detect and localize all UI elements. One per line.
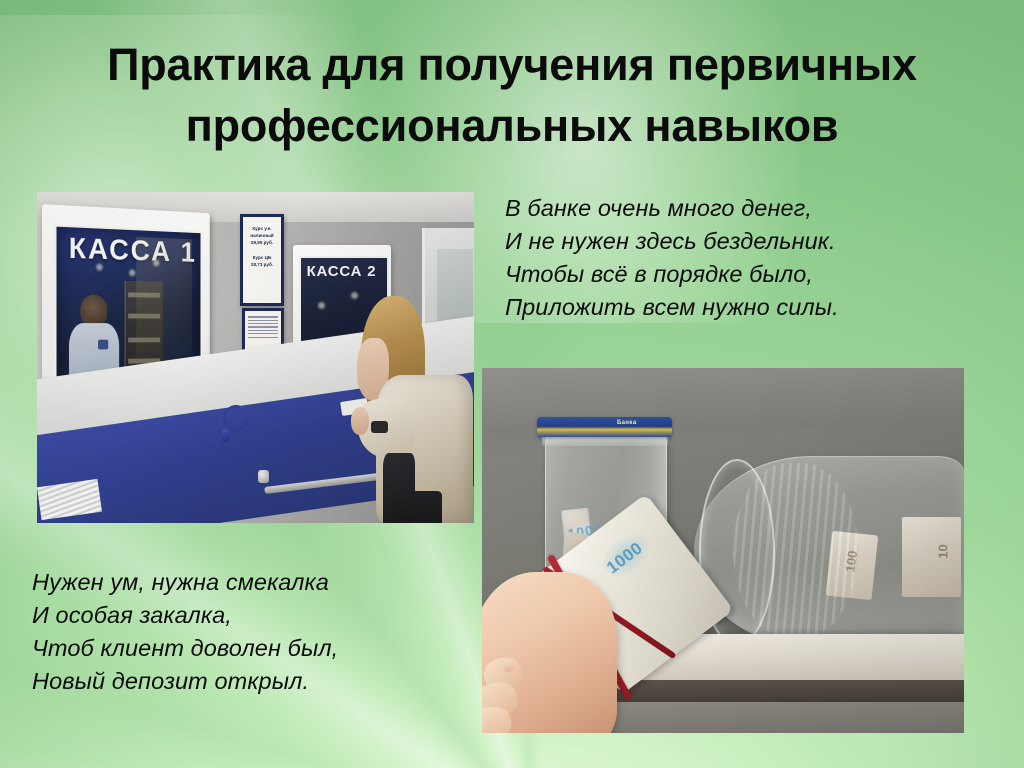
presentation-slide: Практика для получения первичных професс… (0, 0, 1024, 768)
fingernail (503, 660, 515, 672)
banknote-in-tipped-jar-b (902, 517, 961, 597)
jar-lid-label: Банка (617, 420, 637, 426)
photo-bank-teller-windows: КАССА 1 Курс у.е. наличный 29,95 р (37, 192, 474, 523)
upright-jar-lid (537, 417, 672, 437)
tipped-jar-rings (733, 463, 858, 638)
poem-right-text: В банке очень много денег, И не нужен зд… (505, 192, 1005, 324)
upright-jar-neck (542, 436, 667, 447)
counter-rail-knob (258, 470, 269, 483)
teller-head (80, 294, 107, 327)
counter-pen (221, 429, 230, 442)
teller-badge (99, 340, 109, 350)
human-hand (482, 572, 617, 733)
glass-highlight-a (96, 263, 102, 270)
glass-highlight-b (130, 269, 136, 276)
bank-customer-figure (356, 291, 474, 523)
glass-highlight-d (318, 302, 325, 309)
customer-hand (351, 407, 369, 435)
photo-money-jars: Банка 1000 (482, 368, 964, 733)
exchange-rate-notice: Курс у.е. наличный 29,95 руб. Курс ЦБ 28… (240, 214, 284, 306)
cash-window-2-label: КАССА 2 (307, 263, 377, 280)
customer-wristband (371, 421, 388, 433)
poem-left-text: Нужен ум, нужна смекалка И особая закалк… (32, 566, 472, 698)
exchange-rate-notice-text: Курс у.е. наличный 29,95 руб. Курс ЦБ 28… (247, 225, 278, 268)
customer-legs (393, 491, 442, 523)
slide-title: Практика для получения первичных професс… (52, 34, 972, 156)
